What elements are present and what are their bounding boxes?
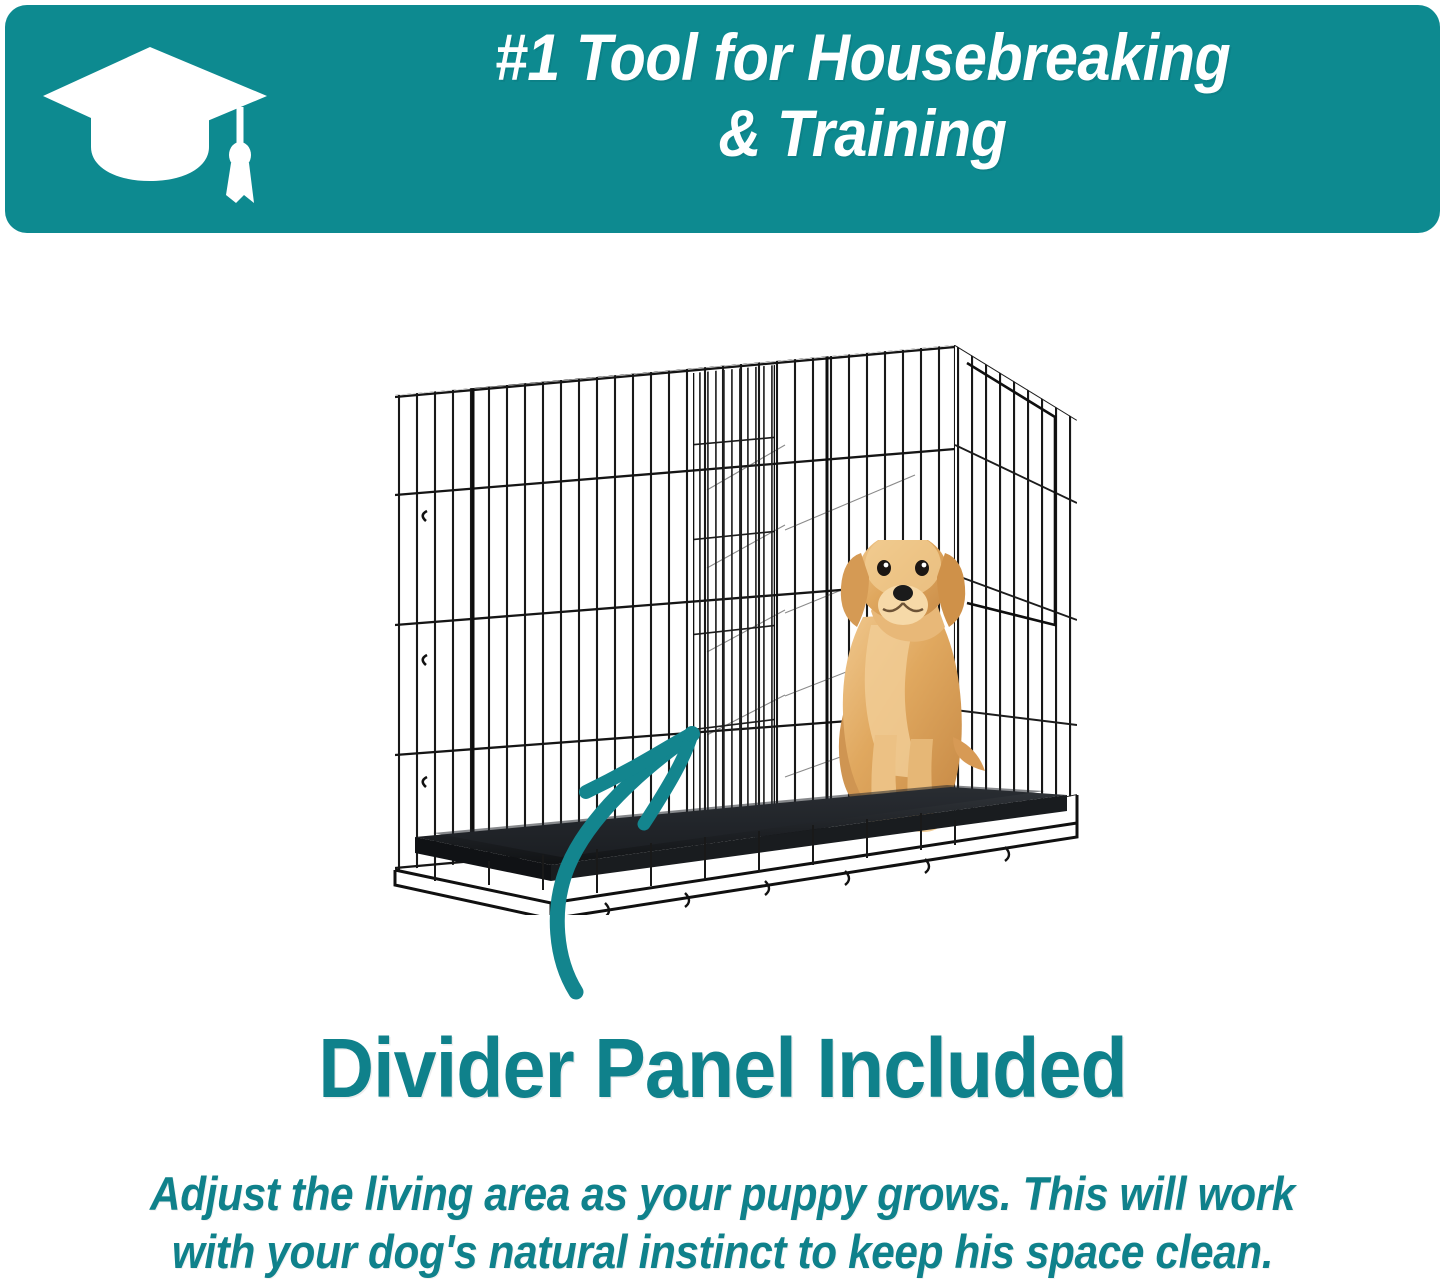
infographic-canvas: #1 Tool for Housebreaking & Training [0,0,1445,1280]
divider-panel [685,355,785,855]
graduation-cap-icon [35,39,285,204]
subhead-divider-panel-included: Divider Panel Included [58,1022,1387,1114]
banner-title: #1 Tool for Housebreaking & Training [361,19,1365,171]
header-banner: #1 Tool for Housebreaking & Training [5,5,1440,233]
product-photo-crate [355,325,1085,915]
caption-text: Adjust the living area as your puppy gro… [122,1165,1324,1281]
